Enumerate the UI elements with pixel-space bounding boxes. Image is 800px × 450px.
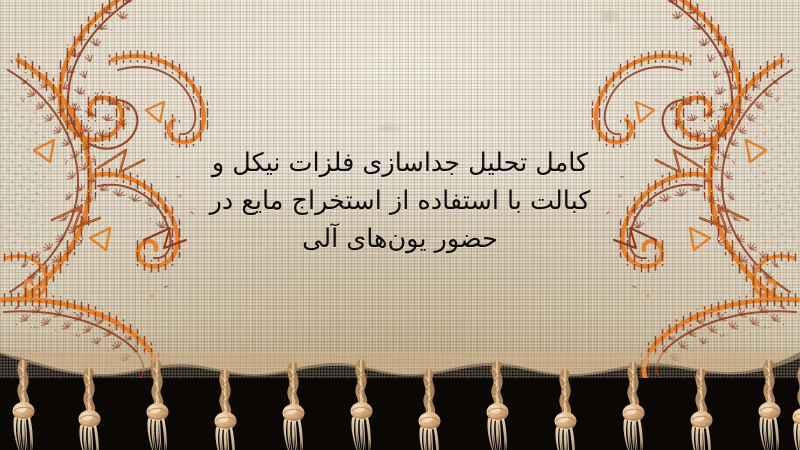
slide-title: کامل تحلیل جداسازی فلزات نیکل و کبالت با… xyxy=(0,144,800,258)
tassel xyxy=(623,366,645,450)
title-line-1: کامل تحلیل جداسازی فلزات نیکل و xyxy=(150,144,650,182)
tassel-fringe xyxy=(0,352,800,450)
tassel xyxy=(487,365,509,450)
tassel xyxy=(283,366,305,450)
title-line-3: حضور یون‌های آلی xyxy=(150,220,650,258)
slide-canvas: کامل تحلیل جداسازی فلزات نیکل و کبالت با… xyxy=(0,0,800,450)
tassel xyxy=(555,374,577,450)
tassel xyxy=(147,365,169,450)
tassel xyxy=(79,372,101,450)
tassel xyxy=(351,364,373,450)
tassel xyxy=(215,374,237,450)
tassel xyxy=(691,373,713,450)
tassel xyxy=(419,374,441,450)
tassel xyxy=(759,364,781,450)
title-line-2: کبالت با استفاده از استخراج مایع در xyxy=(150,182,650,220)
tassel xyxy=(793,370,800,450)
tassel xyxy=(13,364,35,450)
